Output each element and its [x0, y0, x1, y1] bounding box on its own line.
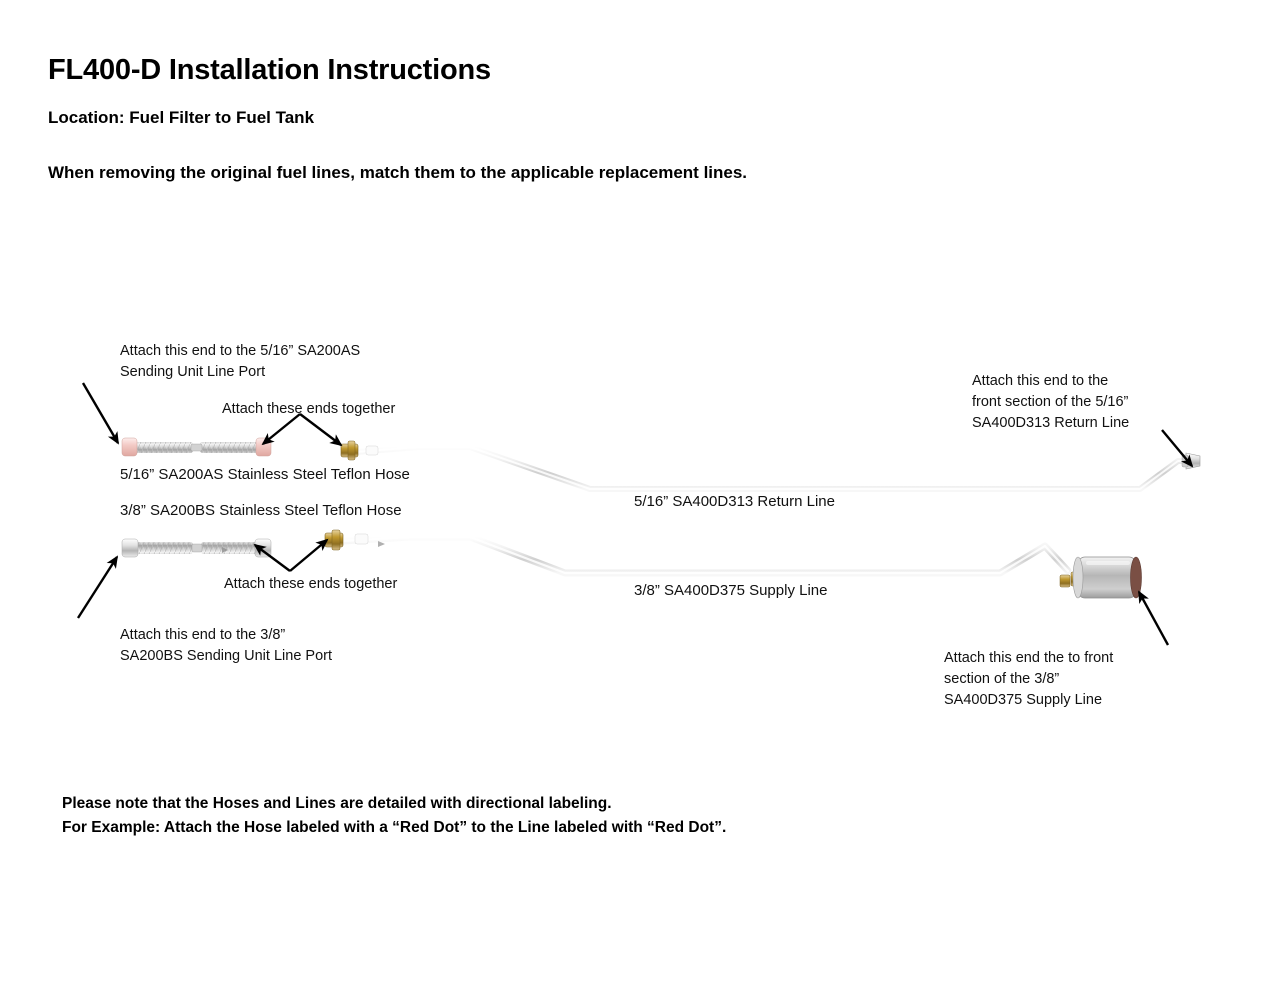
callout-lower-right-line2: section of the 3/8”	[944, 669, 1113, 690]
page-title: FL400-D Installation Instructions	[48, 54, 491, 87]
callout-lower-right-line1: Attach this end the to front	[944, 648, 1113, 669]
label-line-return: 5/16” SA400D313 Return Line	[634, 493, 835, 510]
callout-upper-right-line3: SA400D313 Return Line	[972, 413, 1129, 434]
callout-upper-right-line2: front section of the 5/16”	[972, 392, 1129, 413]
callout-upper-middle-line1: Attach these ends together	[222, 399, 395, 420]
arrow-lower-mid-right	[290, 540, 327, 571]
footer-note: Please note that the Hoses and Lines are…	[62, 792, 726, 840]
footer-note-line1: Please note that the Hoses and Lines are…	[62, 792, 726, 816]
fitting-return-right	[1182, 453, 1200, 469]
arrow-lower-left	[78, 557, 117, 618]
label-line-supply: 3/8” SA400D375 Supply Line	[634, 582, 827, 599]
callout-upper-middle: Attach these ends together	[222, 399, 395, 420]
footer-note-line2: For Example: Attach the Hose labeled wit…	[62, 816, 726, 840]
callout-upper-right-line1: Attach this end to the	[972, 371, 1129, 392]
arrow-lower-mid-left	[255, 545, 290, 571]
hose-upper-sa200as	[122, 438, 271, 456]
fuel-filter-canister	[1073, 557, 1142, 598]
callout-lower-right-line3: SA400D375 Supply Line	[944, 690, 1113, 711]
callout-upper-left-line1: Attach this end to the 5/16” SA200AS	[120, 341, 360, 362]
callout-lower-left-line2: SA200BS Sending Unit Line Port	[120, 646, 332, 667]
fitting-brass-return-left	[341, 441, 358, 460]
page-instruction: When removing the original fuel lines, m…	[48, 163, 747, 183]
fitting-brass-canister	[1060, 572, 1080, 587]
instruction-sheet-page: FL400-D Installation Instructions Locati…	[0, 0, 1280, 989]
callout-lower-left: Attach this end to the 3/8” SA200BS Send…	[120, 625, 332, 667]
callout-lower-middle-line1: Attach these ends together	[224, 574, 397, 595]
callout-upper-left-line2: Sending Unit Line Port	[120, 362, 360, 383]
arrow-lower-right	[1139, 592, 1168, 645]
callout-lower-left-line1: Attach this end to the 3/8”	[120, 625, 332, 646]
callout-lower-right: Attach this end the to front section of …	[944, 648, 1113, 711]
page-subtitle: Location: Fuel Filter to Fuel Tank	[48, 108, 314, 128]
line-return-sa400d313	[341, 441, 1200, 489]
callout-upper-right: Attach this end to the front section of …	[972, 371, 1129, 434]
arrow-upper-left	[83, 383, 118, 443]
callout-lower-middle: Attach these ends together	[224, 574, 397, 595]
arrow-upper-right	[1162, 430, 1192, 466]
label-hose-lower: 3/8” SA200BS Stainless Steel Teflon Hose	[120, 502, 402, 519]
label-hose-upper: 5/16” SA200AS Stainless Steel Teflon Hos…	[120, 466, 410, 483]
callout-upper-left: Attach this end to the 5/16” SA200AS Sen…	[120, 341, 360, 383]
hose-lower-sa200bs	[122, 539, 271, 557]
fitting-brass-supply-left	[325, 530, 343, 550]
